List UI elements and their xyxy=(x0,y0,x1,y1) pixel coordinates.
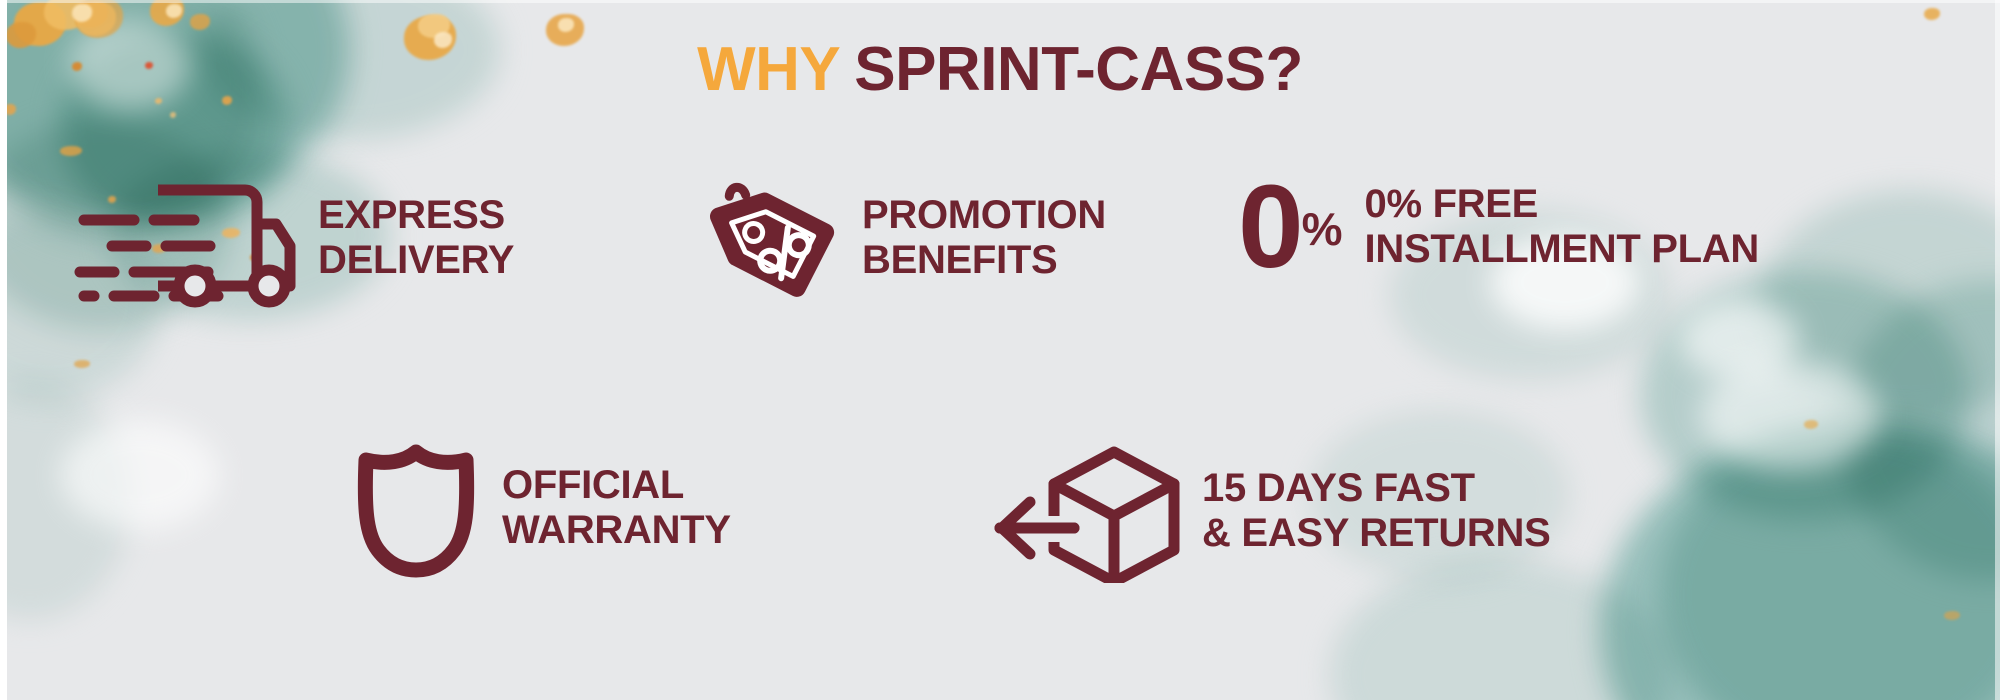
gold-fleck xyxy=(190,14,210,30)
gold-fleck xyxy=(44,0,90,30)
zero-percent-number: 0 xyxy=(1238,168,1300,286)
gold-fleck xyxy=(76,2,116,36)
feature-label: EXPRESS DELIVERY xyxy=(318,193,514,283)
gold-fleck xyxy=(74,360,90,368)
heading-highlight: WHY xyxy=(697,35,840,104)
gold-fleck xyxy=(1804,420,1818,429)
watercolor-blob-right-upper xyxy=(1760,190,2000,420)
return-box-arrow-icon xyxy=(990,438,1180,583)
heading-rest: SPRINT-CASS? xyxy=(854,35,1303,104)
promo-banner: WHYSPRINT-CASS? xyxy=(0,0,2000,700)
feature-label: 0% FREE INSTALLMENT PLAN xyxy=(1365,182,1759,272)
gold-fleck xyxy=(166,4,182,18)
gold-fleck xyxy=(76,4,94,20)
banner-heading: WHYSPRINT-CASS? xyxy=(0,34,2000,105)
price-tag-percent-icon xyxy=(700,168,840,308)
feature-promotion-benefits: PROMOTION BENEFITS xyxy=(700,168,1106,308)
gold-fleck xyxy=(170,112,176,118)
watercolor-blob-bottom-right xyxy=(1600,420,2000,700)
watercolor-highlight-bottom-right xyxy=(1700,360,1880,470)
gold-fleck xyxy=(150,0,184,26)
watercolor-blob-right-mid xyxy=(1640,270,1970,520)
paper-edge-left xyxy=(0,0,7,700)
feature-express-delivery: EXPRESS DELIVERY xyxy=(62,168,514,308)
watercolor-background xyxy=(0,0,2000,700)
shield-icon xyxy=(352,438,480,578)
feature-label: 15 DAYS FAST & EASY RETURNS xyxy=(1202,466,1550,556)
gold-fleck xyxy=(1944,611,1960,620)
gold-fleck xyxy=(74,0,108,28)
gold-fleck xyxy=(75,0,123,38)
feature-installment-plan: 0 % 0% FREE INSTALLMENT PLAN xyxy=(1238,168,1759,286)
watercolor-blob-right-far xyxy=(1840,280,2000,580)
delivery-truck-icon xyxy=(62,168,296,308)
gold-fleck xyxy=(1924,8,1940,20)
zero-percent-symbol: % xyxy=(1302,206,1343,252)
feature-label: PROMOTION BENEFITS xyxy=(862,193,1106,283)
watercolor-highlight-right-2 xyxy=(1680,300,1800,380)
paper-edge-top xyxy=(0,0,2000,3)
feature-easy-returns: 15 DAYS FAST & EASY RETURNS xyxy=(990,438,1550,583)
feature-official-warranty: OFFICIAL WARRANTY xyxy=(352,438,731,578)
gold-fleck xyxy=(72,4,92,22)
feature-label: OFFICIAL WARRANTY xyxy=(502,463,731,553)
zero-percent-icon: 0 % xyxy=(1238,168,1343,286)
watercolor-blob-bottom-right-2 xyxy=(1660,430,2000,700)
gold-fleck xyxy=(60,146,82,156)
watercolor-blob-left-low xyxy=(0,380,130,620)
gold-fleck xyxy=(558,18,574,32)
gold-fleck xyxy=(4,104,16,115)
watercolor-highlight-bottom-left xyxy=(60,420,220,530)
paper-edge-right xyxy=(1995,0,2000,700)
